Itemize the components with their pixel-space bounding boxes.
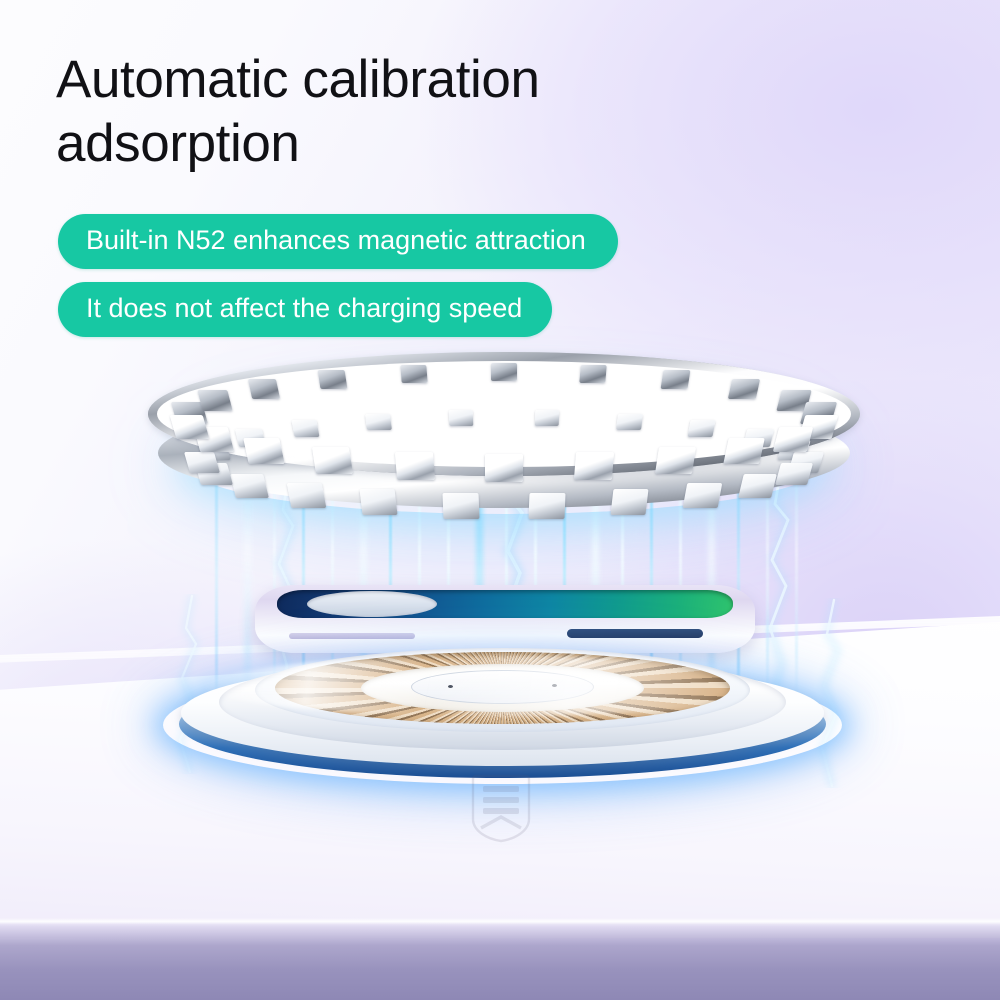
magnet-ring-glow <box>188 418 820 514</box>
magnet-segment-lower <box>742 429 773 447</box>
feature-badge-magnetic: Built-in N52 enhances magnetic attractio… <box>58 214 618 269</box>
magnet-segment <box>311 447 352 474</box>
magnet-segment-lower <box>292 420 321 437</box>
magnet-segment <box>655 447 696 474</box>
magnet-segment-lower <box>443 493 480 519</box>
magnet-ring-lower-band <box>158 398 850 508</box>
magnet-segment-lower <box>535 410 560 426</box>
magnet-segment-lower <box>365 414 391 430</box>
magnet-segment <box>491 363 517 381</box>
magnet-segment-lower <box>184 452 220 473</box>
feature-badge-list: Built-in N52 enhances magnetic attractio… <box>58 214 618 337</box>
magnet-segment-lower <box>775 463 813 485</box>
desk-surface <box>0 608 1000 938</box>
magnet-segment <box>169 415 209 439</box>
magnet-segment <box>485 454 523 482</box>
magnet-segment <box>776 390 811 411</box>
magnet-ring-inner-hole <box>240 376 768 452</box>
magnet-segment-lower <box>197 440 231 460</box>
magnet-segment <box>574 452 614 480</box>
magnet-ring <box>148 352 860 502</box>
magnet-segment <box>728 379 760 399</box>
magnet-segment-lower <box>616 414 642 430</box>
feature-badge-charging-speed: It does not affect the charging speed <box>58 282 552 337</box>
magnet-segment <box>194 427 235 452</box>
headline-line-1: Automatic calibration <box>56 48 816 112</box>
magnet-ring-top-lip <box>148 352 860 476</box>
magnet-segment <box>773 427 814 452</box>
magnet-segment-lower <box>528 493 565 519</box>
magnet-segment <box>197 390 232 411</box>
magnet-segment-lower <box>610 489 648 515</box>
magnet-segment <box>800 402 837 424</box>
magnet-segment <box>799 415 839 439</box>
magnet-segment <box>661 370 691 389</box>
magnet-segment <box>243 438 285 464</box>
magnet-segment <box>401 365 429 383</box>
magnet-segment <box>580 365 608 383</box>
phone-side-button <box>289 633 415 639</box>
magnet-segment <box>394 452 434 480</box>
magnet-segment <box>170 402 207 424</box>
magnet-segment-lower <box>287 483 326 508</box>
phone-camera-module <box>307 591 437 617</box>
magnet-segment-lower <box>788 452 824 473</box>
magnet-segment-lower <box>777 440 811 460</box>
magnet-segment-lower <box>682 483 721 508</box>
magnet-segment-lower <box>234 429 265 447</box>
magnet-segment-lower <box>195 463 233 485</box>
headline-line-2: adsorption <box>56 112 816 176</box>
magnet-segment-lower <box>449 410 474 426</box>
magnet-segment-lower <box>739 474 778 498</box>
magnet-segment <box>248 379 280 399</box>
magnet-segment <box>317 370 347 389</box>
magnet-segment-lower <box>359 489 397 515</box>
phone-screen <box>277 590 733 618</box>
magnet-segment-lower <box>230 474 269 498</box>
product-banner: Automatic calibration adsorption Built-i… <box>0 0 1000 1000</box>
floor-band <box>0 922 1000 1000</box>
magnet-ring-outer-band <box>148 352 860 476</box>
magnet-segment-lower <box>687 420 716 437</box>
page-title: Automatic calibration adsorption <box>56 48 816 176</box>
magnet-segment <box>724 438 766 464</box>
